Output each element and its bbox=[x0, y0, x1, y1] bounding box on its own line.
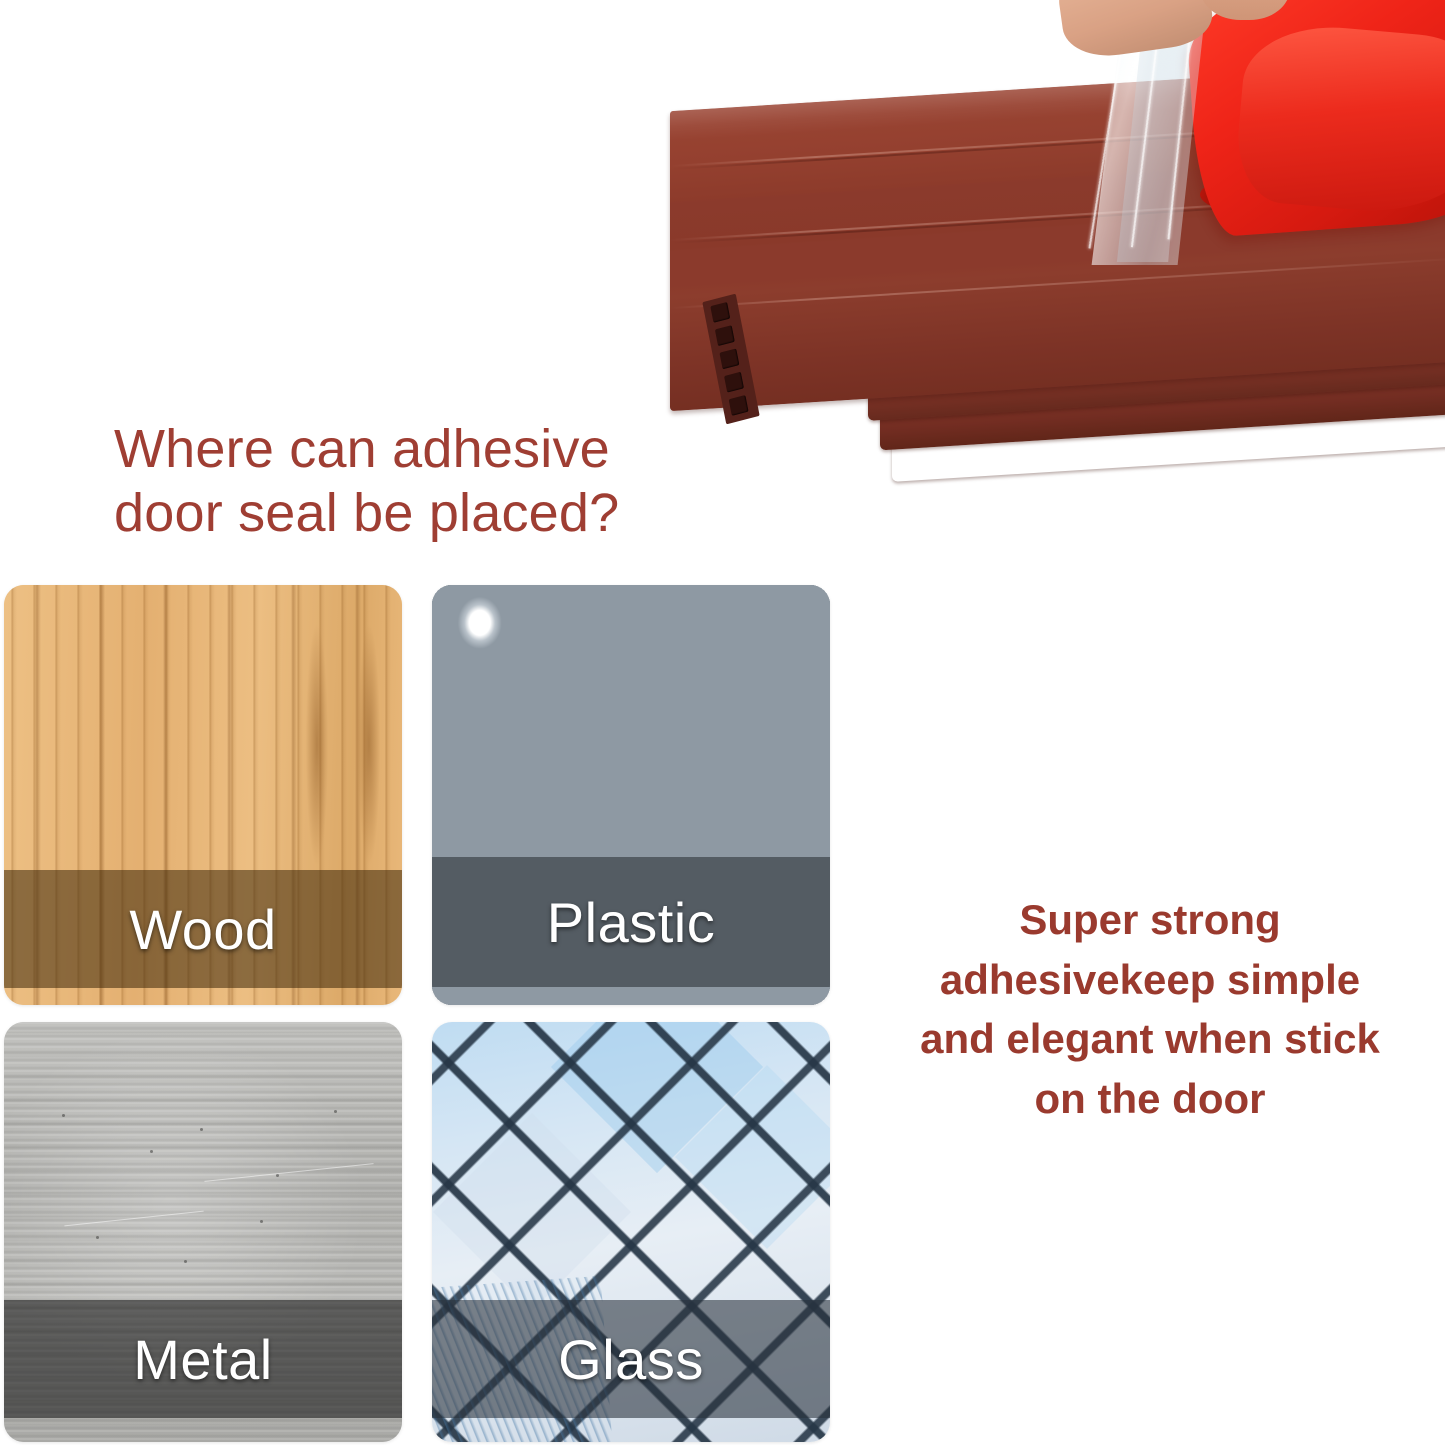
material-label-band: Wood bbox=[4, 870, 402, 988]
page-title-line-2: door seal be placed? bbox=[114, 482, 814, 546]
material-label-band: Metal bbox=[4, 1300, 402, 1418]
seal-channel bbox=[724, 372, 744, 393]
material-label-wood: Wood bbox=[129, 897, 276, 962]
seal-channel bbox=[719, 349, 739, 370]
material-tile-wood[interactable]: Wood bbox=[4, 585, 402, 1005]
page-title: Where can adhesive door seal be placed? bbox=[114, 418, 814, 545]
promo-line-1: Super strong bbox=[860, 890, 1440, 950]
promo-copy: Super strong adhesivekeep simple and ele… bbox=[860, 890, 1440, 1129]
material-tile-metal[interactable]: Metal bbox=[4, 1022, 402, 1442]
material-tile-glass[interactable]: Glass bbox=[432, 1022, 830, 1442]
material-label-glass: Glass bbox=[558, 1327, 704, 1392]
seal-channel bbox=[715, 325, 735, 346]
promo-line-4: on the door bbox=[860, 1069, 1440, 1129]
material-tile-plastic[interactable]: Plastic bbox=[432, 585, 830, 1005]
red-release-liner-fold bbox=[1233, 20, 1445, 221]
material-label-band: Glass bbox=[432, 1300, 830, 1418]
material-label-band: Plastic bbox=[432, 857, 830, 987]
seal-channel bbox=[710, 302, 730, 323]
page-title-line-1: Where can adhesive bbox=[114, 418, 814, 482]
material-label-metal: Metal bbox=[133, 1327, 272, 1392]
promo-line-2: adhesivekeep simple bbox=[860, 950, 1440, 1010]
strip-crease bbox=[670, 257, 1445, 309]
promo-line-3: and elegant when stick bbox=[860, 1009, 1440, 1069]
material-label-plastic: Plastic bbox=[547, 890, 715, 955]
seal-channel bbox=[729, 395, 749, 416]
product-infographic: Where can adhesive door seal be placed? … bbox=[0, 0, 1445, 1445]
